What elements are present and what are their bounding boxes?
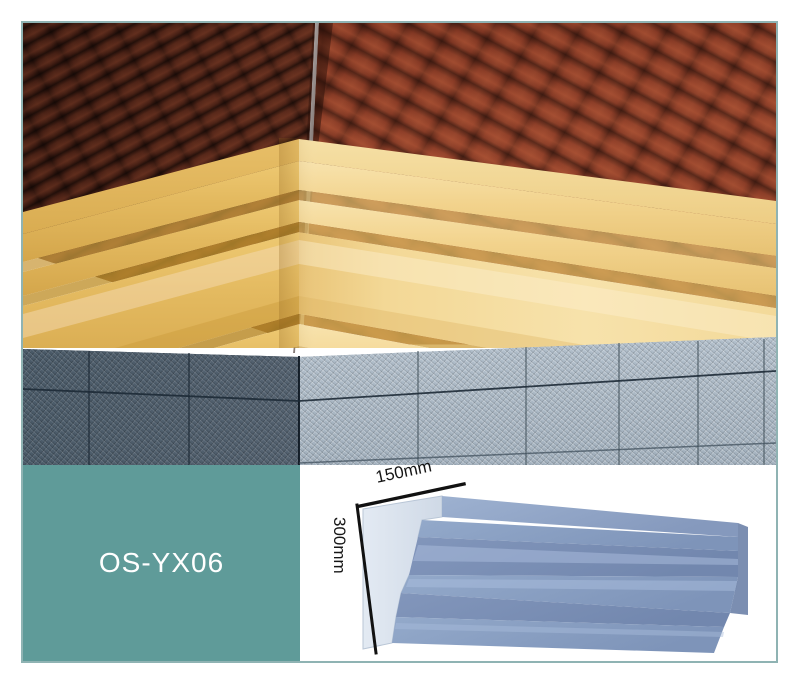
moulding-profile-drawing: [300, 465, 776, 661]
tiled-wall: [23, 331, 776, 466]
dimension-label-height: 300mm: [329, 517, 349, 574]
model-label-panel: OS-YX06: [23, 465, 300, 661]
model-code-text: OS-YX06: [99, 547, 224, 579]
cornice-assembly: [23, 138, 776, 348]
screenshot-root: OS-YX06: [0, 0, 800, 687]
technical-drawing-panel: 150mm 300mm: [300, 465, 776, 661]
wall-grout-lines: [23, 331, 776, 466]
product-image-frame: OS-YX06: [21, 21, 778, 663]
cornice-corner-shadow: [279, 138, 319, 348]
cornice-profile-svg: [23, 138, 776, 348]
product-photo: OS-YX06: [23, 23, 776, 661]
